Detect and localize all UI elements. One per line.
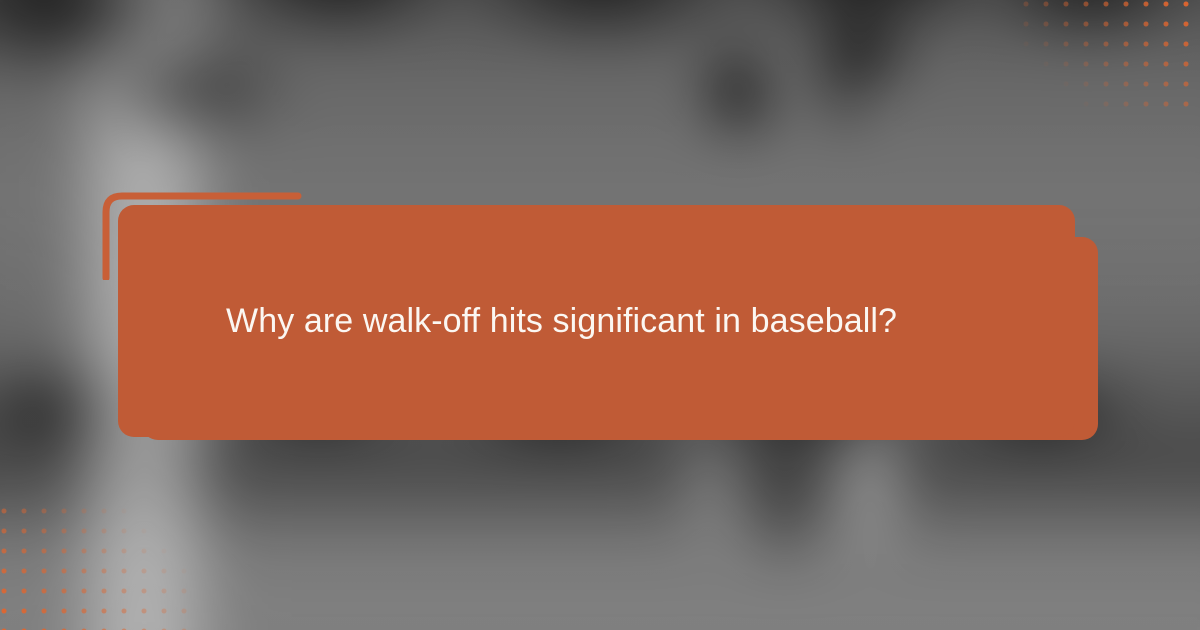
page-title: Why are walk-off hits significant in bas… (118, 300, 957, 343)
headline-card: Why are walk-off hits significant in bas… (118, 205, 1075, 437)
social-card-canvas: Why are walk-off hits significant in bas… (0, 0, 1200, 630)
